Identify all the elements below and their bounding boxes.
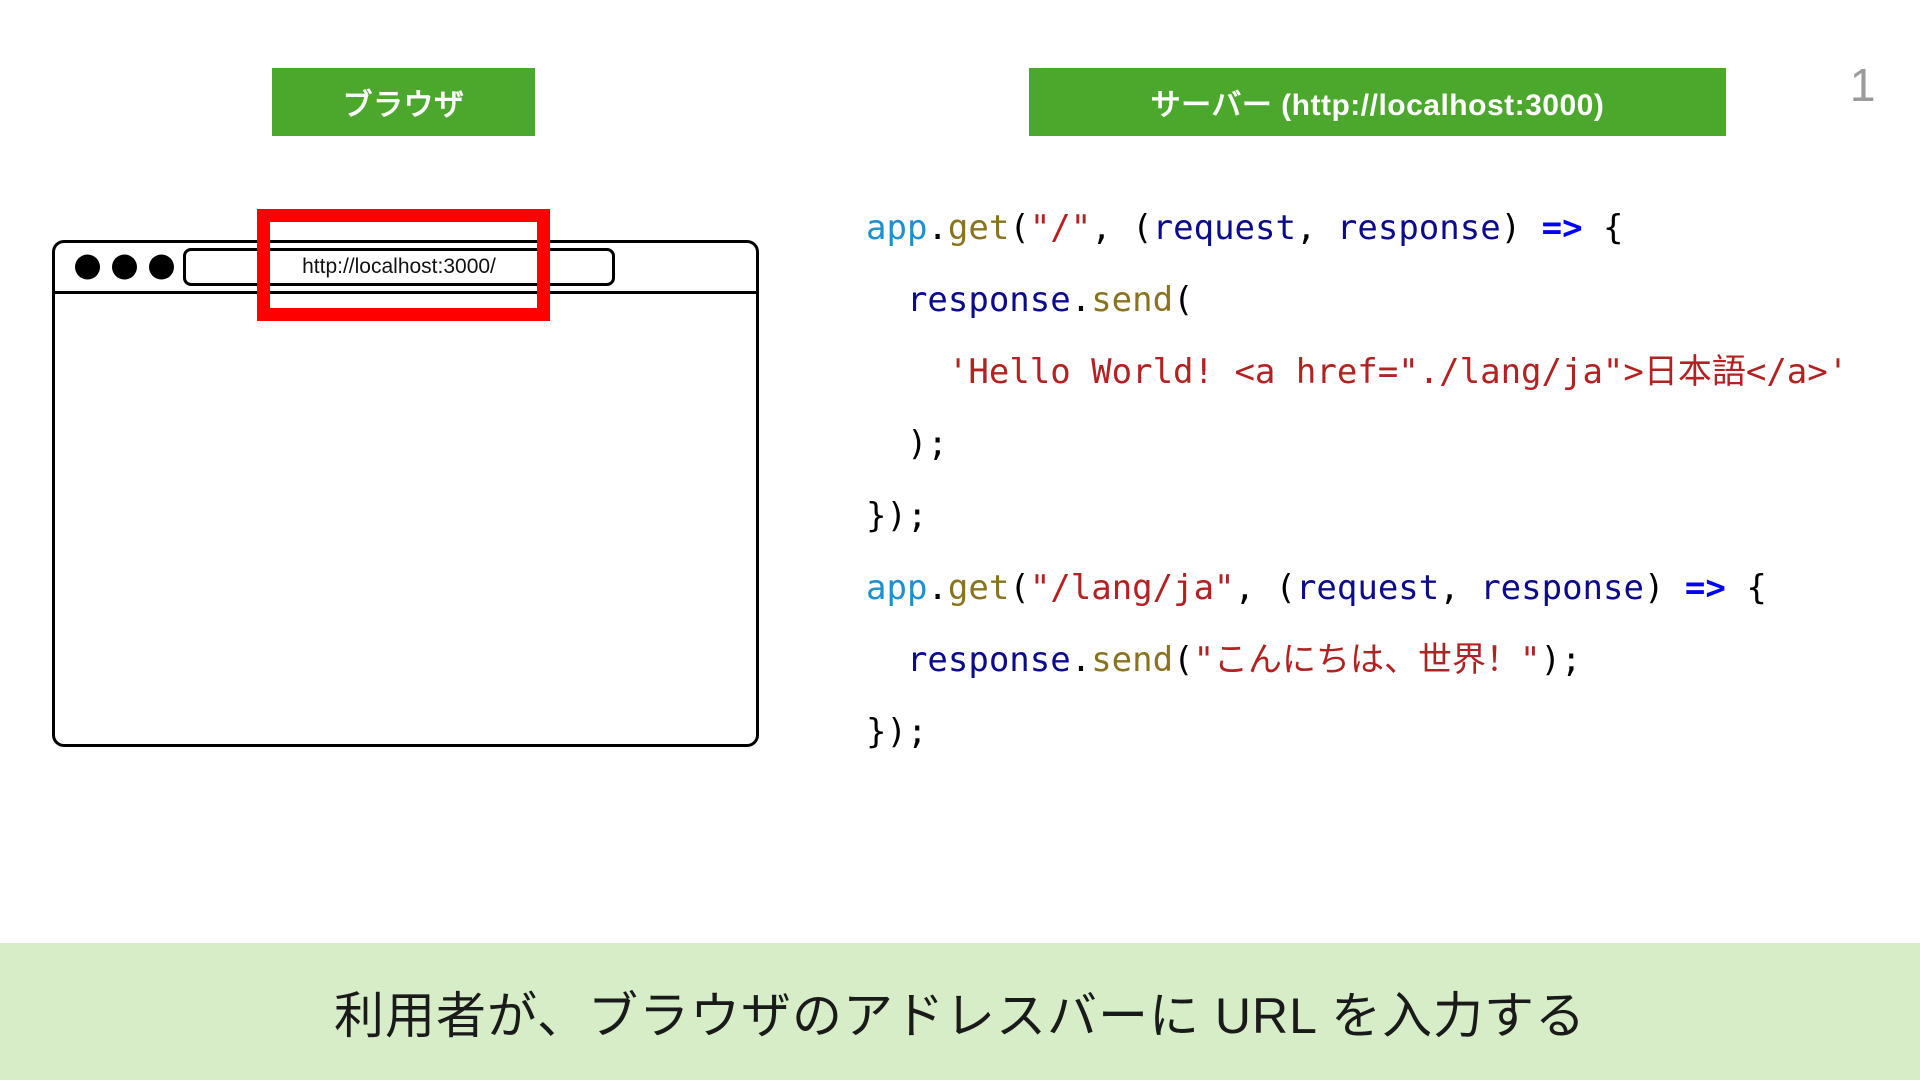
code-line: response.send( [866, 264, 1848, 336]
code-token: => [1542, 208, 1583, 248]
code-token: ); [1541, 640, 1582, 680]
code-token: . [927, 568, 947, 608]
code-token: get [948, 208, 1009, 248]
code-token: response [1337, 208, 1501, 248]
code-token: response [907, 640, 1071, 680]
code-token: app [866, 208, 927, 248]
code-token: request [1153, 208, 1296, 248]
minimize-dot-icon[interactable] [112, 255, 137, 280]
code-token: "/lang/ja" [1030, 568, 1235, 608]
column-header-browser-label: ブラウザ [343, 80, 465, 124]
column-header-browser: ブラウザ [272, 68, 535, 136]
code-token: , [1439, 568, 1480, 608]
code-token: get [948, 568, 1009, 608]
code-token: , ( [1091, 208, 1152, 248]
code-token: ( [1173, 280, 1193, 320]
code-token: . [1071, 640, 1091, 680]
caption-text: 利用者が、ブラウザのアドレスバーに URL を入力する [334, 976, 1586, 1048]
slide-canvas: 1 ブラウザ サーバー (http://localhost:3000) http… [0, 0, 1920, 1080]
traffic-light-dots [75, 255, 174, 280]
column-header-server: サーバー (http://localhost:3000) [1029, 68, 1726, 136]
code-token: send [1091, 640, 1173, 680]
code-token: , [1296, 208, 1337, 248]
code-token: request [1296, 568, 1439, 608]
code-line: }); [866, 696, 1848, 768]
code-line: }); [866, 480, 1848, 552]
code-token [866, 640, 907, 680]
code-token: ) [1644, 568, 1685, 608]
code-token: ) [1501, 208, 1542, 248]
code-token: "こんにちは、世界！" [1194, 640, 1541, 680]
code-token: , ( [1235, 568, 1296, 608]
browser-viewport [52, 291, 759, 747]
close-dot-icon[interactable] [75, 255, 100, 280]
code-token: }); [866, 496, 927, 536]
code-token [866, 280, 907, 320]
code-token [866, 352, 948, 392]
code-line: response.send("こんにちは、世界！"); [866, 624, 1848, 696]
code-line: 'Hello World! <a href="./lang/ja">日本語</a… [866, 336, 1848, 408]
code-token: ( [1009, 568, 1029, 608]
page-number: 1 [1850, 62, 1876, 108]
code-token: { [1583, 208, 1624, 248]
code-line: ); [866, 408, 1848, 480]
code-line: app.get("/", (request, response) => { [866, 192, 1848, 264]
code-token: response [1480, 568, 1644, 608]
maximize-dot-icon[interactable] [149, 255, 174, 280]
code-token: ( [1009, 208, 1029, 248]
code-token: { [1726, 568, 1767, 608]
code-token: . [927, 208, 947, 248]
address-bar-highlight-box [257, 209, 550, 321]
code-token: }); [866, 712, 927, 752]
code-token: response [907, 280, 1071, 320]
code-token: 'Hello World! <a href="./lang/ja">日本語</a… [948, 352, 1848, 392]
code-token: ); [866, 424, 948, 464]
code-token: ( [1173, 640, 1193, 680]
code-line: app.get("/lang/ja", (request, response) … [866, 552, 1848, 624]
caption-band: 利用者が、ブラウザのアドレスバーに URL を入力する [0, 943, 1920, 1080]
server-code-block: app.get("/", (request, response) => { re… [866, 192, 1848, 768]
code-token: app [866, 568, 927, 608]
code-token: . [1071, 280, 1091, 320]
column-header-server-label: サーバー (http://localhost:3000) [1151, 80, 1605, 124]
code-token: "/" [1030, 208, 1091, 248]
code-token: send [1091, 280, 1173, 320]
code-token: => [1685, 568, 1726, 608]
